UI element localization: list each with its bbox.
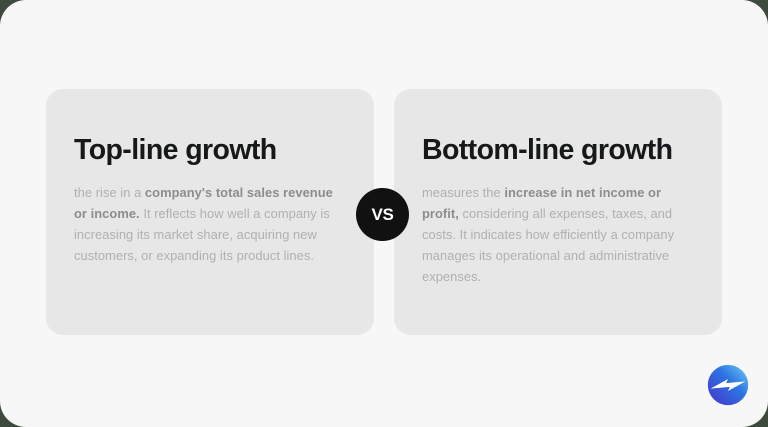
comparison-card-bottom-line: Bottom-line growth measures the increase… [394,89,722,335]
comparison-card-top-line: Top-line growth the rise in a company's … [46,89,374,335]
card-title-top-line: Top-line growth [74,135,346,167]
brand-lightning-bolt-circle-logo [706,363,750,407]
card-title-bottom-line: Bottom-line growth [422,135,694,167]
card-body-segment: considering all expenses, taxes, and cos… [422,206,674,284]
card-body-segment: measures the [422,185,504,200]
versus-badge-label: VS [371,206,393,223]
versus-badge: VS [356,188,409,241]
card-body-bottom-line: measures the increase in net income or p… [422,183,694,288]
card-body-segment: the rise in a [74,185,145,200]
slide-canvas: Top-line growth the rise in a company's … [0,0,768,427]
card-body-top-line: the rise in a company's total sales reve… [74,183,346,267]
